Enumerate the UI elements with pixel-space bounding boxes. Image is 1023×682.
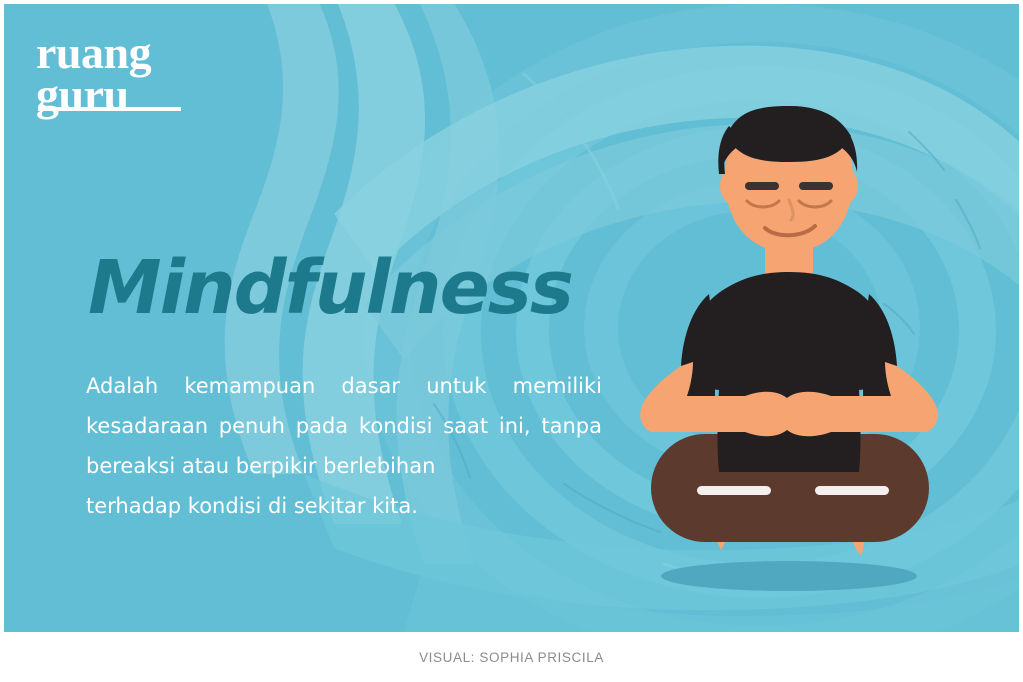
meditating-figure-illustration: [589, 104, 989, 624]
logo-line-ruang: ruang: [36, 32, 151, 74]
poster-root: ruang guru Mindfulness Adalah kemampuan …: [0, 0, 1023, 682]
brand-logo[interactable]: ruang guru: [36, 32, 151, 117]
logo-underline-stroke: [38, 107, 181, 111]
head-group: [718, 106, 858, 252]
body-paragraph: Adalah kemampuan dasar untuk memiliki ke…: [86, 366, 602, 526]
footer-bar: VISUAL: SOPHIA PRISCILA: [0, 632, 1023, 682]
body-line-4: terhadap kondisi di sekitar kita.: [86, 486, 602, 526]
figure-svg: [589, 104, 989, 624]
body-line-2: kesadaraan penuh pada kondisi saat ini,: [86, 414, 531, 438]
body-line-1: Adalah kemampuan dasar untuk memiliki: [86, 374, 602, 398]
eyebrow-right: [799, 182, 833, 190]
artboard: ruang guru Mindfulness Adalah kemampuan …: [4, 4, 1019, 632]
logo-line-guru: guru: [36, 74, 129, 116]
figure-shadow: [661, 561, 917, 591]
visual-credit: VISUAL: SOPHIA PRISCILA: [419, 650, 604, 665]
eyebrow-left: [745, 182, 779, 190]
page-title: Mindfulness: [88, 251, 572, 325]
